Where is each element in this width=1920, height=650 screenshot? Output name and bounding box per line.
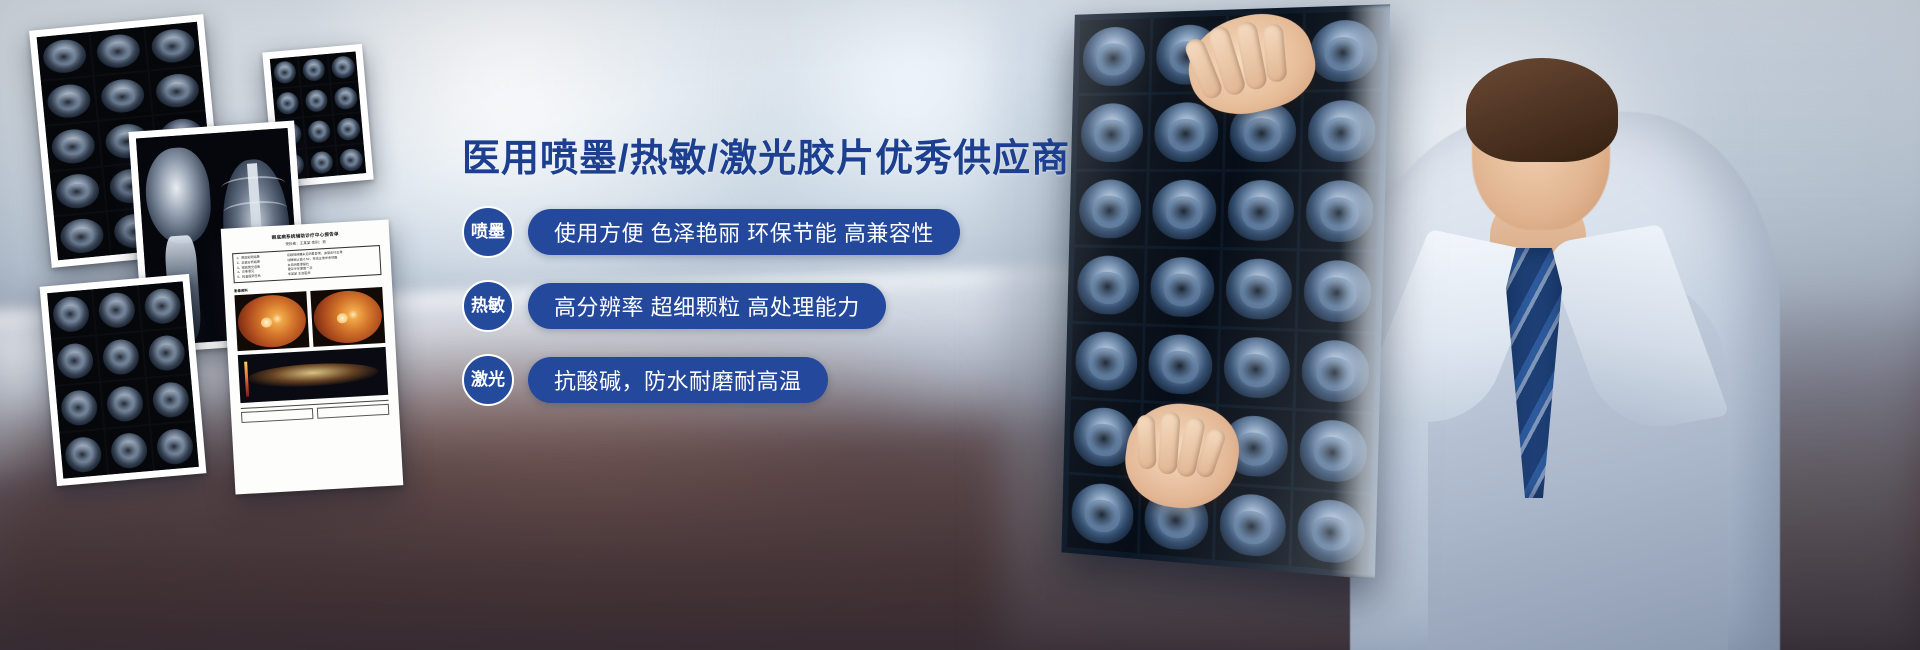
finger xyxy=(1263,23,1288,83)
report-footer-cell xyxy=(317,404,390,419)
feature-row-thermal: 热敏 高分辨率 超细颗粒 高处理能力 xyxy=(462,280,1082,332)
ct-tile xyxy=(336,144,366,175)
mri-tile xyxy=(55,383,103,432)
xray-tile xyxy=(95,72,151,120)
mri-slice xyxy=(1075,172,1147,246)
mri-tile xyxy=(59,430,107,479)
ct-tile xyxy=(304,116,334,147)
xray-tile xyxy=(50,167,106,215)
xray-tile xyxy=(41,77,97,125)
ct-tile xyxy=(307,147,337,178)
feature-tag-laser: 激光 xyxy=(462,354,514,406)
xray-tile xyxy=(45,122,101,170)
mri-tile xyxy=(97,332,145,381)
mri-slice xyxy=(1067,474,1139,553)
ct-tile xyxy=(273,87,303,118)
mri-tile xyxy=(93,285,141,334)
banner-copy: 医用喷墨/热敏/激光胶片优秀供应商 喷墨 使用方便 色泽艳丽 环保节能 高兼容性… xyxy=(462,140,1082,428)
brain-mri-film-surface xyxy=(47,281,199,478)
ct-tile xyxy=(299,54,329,85)
finger xyxy=(1137,415,1157,470)
brain-mri-film xyxy=(40,274,207,486)
mri-tile xyxy=(151,422,199,471)
mri-slice xyxy=(1214,485,1290,566)
feature-tag-thermal: 热敏 xyxy=(462,280,514,332)
xray-tile xyxy=(149,67,205,115)
doctor-figure xyxy=(1020,0,1920,650)
xray-tile xyxy=(145,22,201,70)
fundus-photo xyxy=(310,287,385,347)
report-info-box: 1、眼底彩照结果 双眼视网膜未见明显异常，血管走行正常 2、血管分析结果 动静脉… xyxy=(232,245,381,284)
xray-tile xyxy=(54,212,110,260)
oct-scan-image xyxy=(238,347,388,403)
mri-slice xyxy=(1218,329,1294,408)
mri-slice xyxy=(1145,249,1219,325)
feature-row-laser: 激光 抗酸碱，防水耐磨耐高温 xyxy=(462,354,1082,406)
fundus-report-sheet: 眼底病系统辅助诊疗中心报告单 受检者：王某某 性别：男 1、眼底彩照结果 双眼视… xyxy=(221,220,404,495)
mri-slice xyxy=(1073,248,1145,323)
ct-tile xyxy=(302,85,332,116)
ct-tile xyxy=(328,51,358,82)
mri-slice xyxy=(1078,18,1150,93)
rib-line xyxy=(221,174,286,197)
mri-tile xyxy=(143,328,191,377)
mri-tile xyxy=(101,379,149,428)
ct-tile xyxy=(270,57,300,88)
mri-slice xyxy=(1221,250,1298,328)
report-image-grid xyxy=(234,287,385,351)
ct-tile xyxy=(331,82,361,113)
xray-tile xyxy=(37,32,93,80)
feature-pill-thermal: 高分辨率 超细颗粒 高处理能力 xyxy=(528,283,886,329)
medical-film-stack: 眼底病系统辅助诊疗中心报告单 受检者：王某某 性别：男 1、眼底彩照结果 双眼视… xyxy=(0,0,420,650)
mri-tile xyxy=(105,426,153,475)
feature-row-inkjet: 喷墨 使用方便 色泽艳丽 环保节能 高兼容性 xyxy=(462,206,1082,258)
hero-banner: 眼底病系统辅助诊疗中心报告单 受检者：王某某 性别：男 1、眼底彩照结果 双眼视… xyxy=(0,0,1920,650)
doctor-hair xyxy=(1466,58,1618,162)
mri-slice xyxy=(1143,326,1217,404)
ct-tile xyxy=(334,113,364,144)
report-footer xyxy=(241,400,390,423)
mri-tile xyxy=(47,289,95,338)
report-footer-cell xyxy=(241,408,314,423)
mri-slice xyxy=(1077,95,1149,169)
feature-tag-inkjet: 喷墨 xyxy=(462,206,514,258)
fundus-photo xyxy=(234,292,309,352)
feature-pill-inkjet: 使用方便 色泽艳丽 环保节能 高兼容性 xyxy=(528,209,960,255)
rib-line xyxy=(223,199,288,222)
xray-tile xyxy=(91,27,147,75)
feature-list: 喷墨 使用方便 色泽艳丽 环保节能 高兼容性 热敏 高分辨率 超细颗粒 高处理能… xyxy=(462,206,1082,406)
feature-pill-laser: 抗酸碱，防水耐磨耐高温 xyxy=(528,357,828,403)
mri-tile xyxy=(147,375,195,424)
mri-slice xyxy=(1223,172,1300,249)
mri-tile xyxy=(139,281,187,330)
mri-tile xyxy=(51,336,99,385)
brain-mri-tile-grid xyxy=(47,281,199,478)
mri-slice xyxy=(1147,172,1221,247)
page-title: 医用喷墨/热敏/激光胶片优秀供应商 xyxy=(462,140,1082,178)
